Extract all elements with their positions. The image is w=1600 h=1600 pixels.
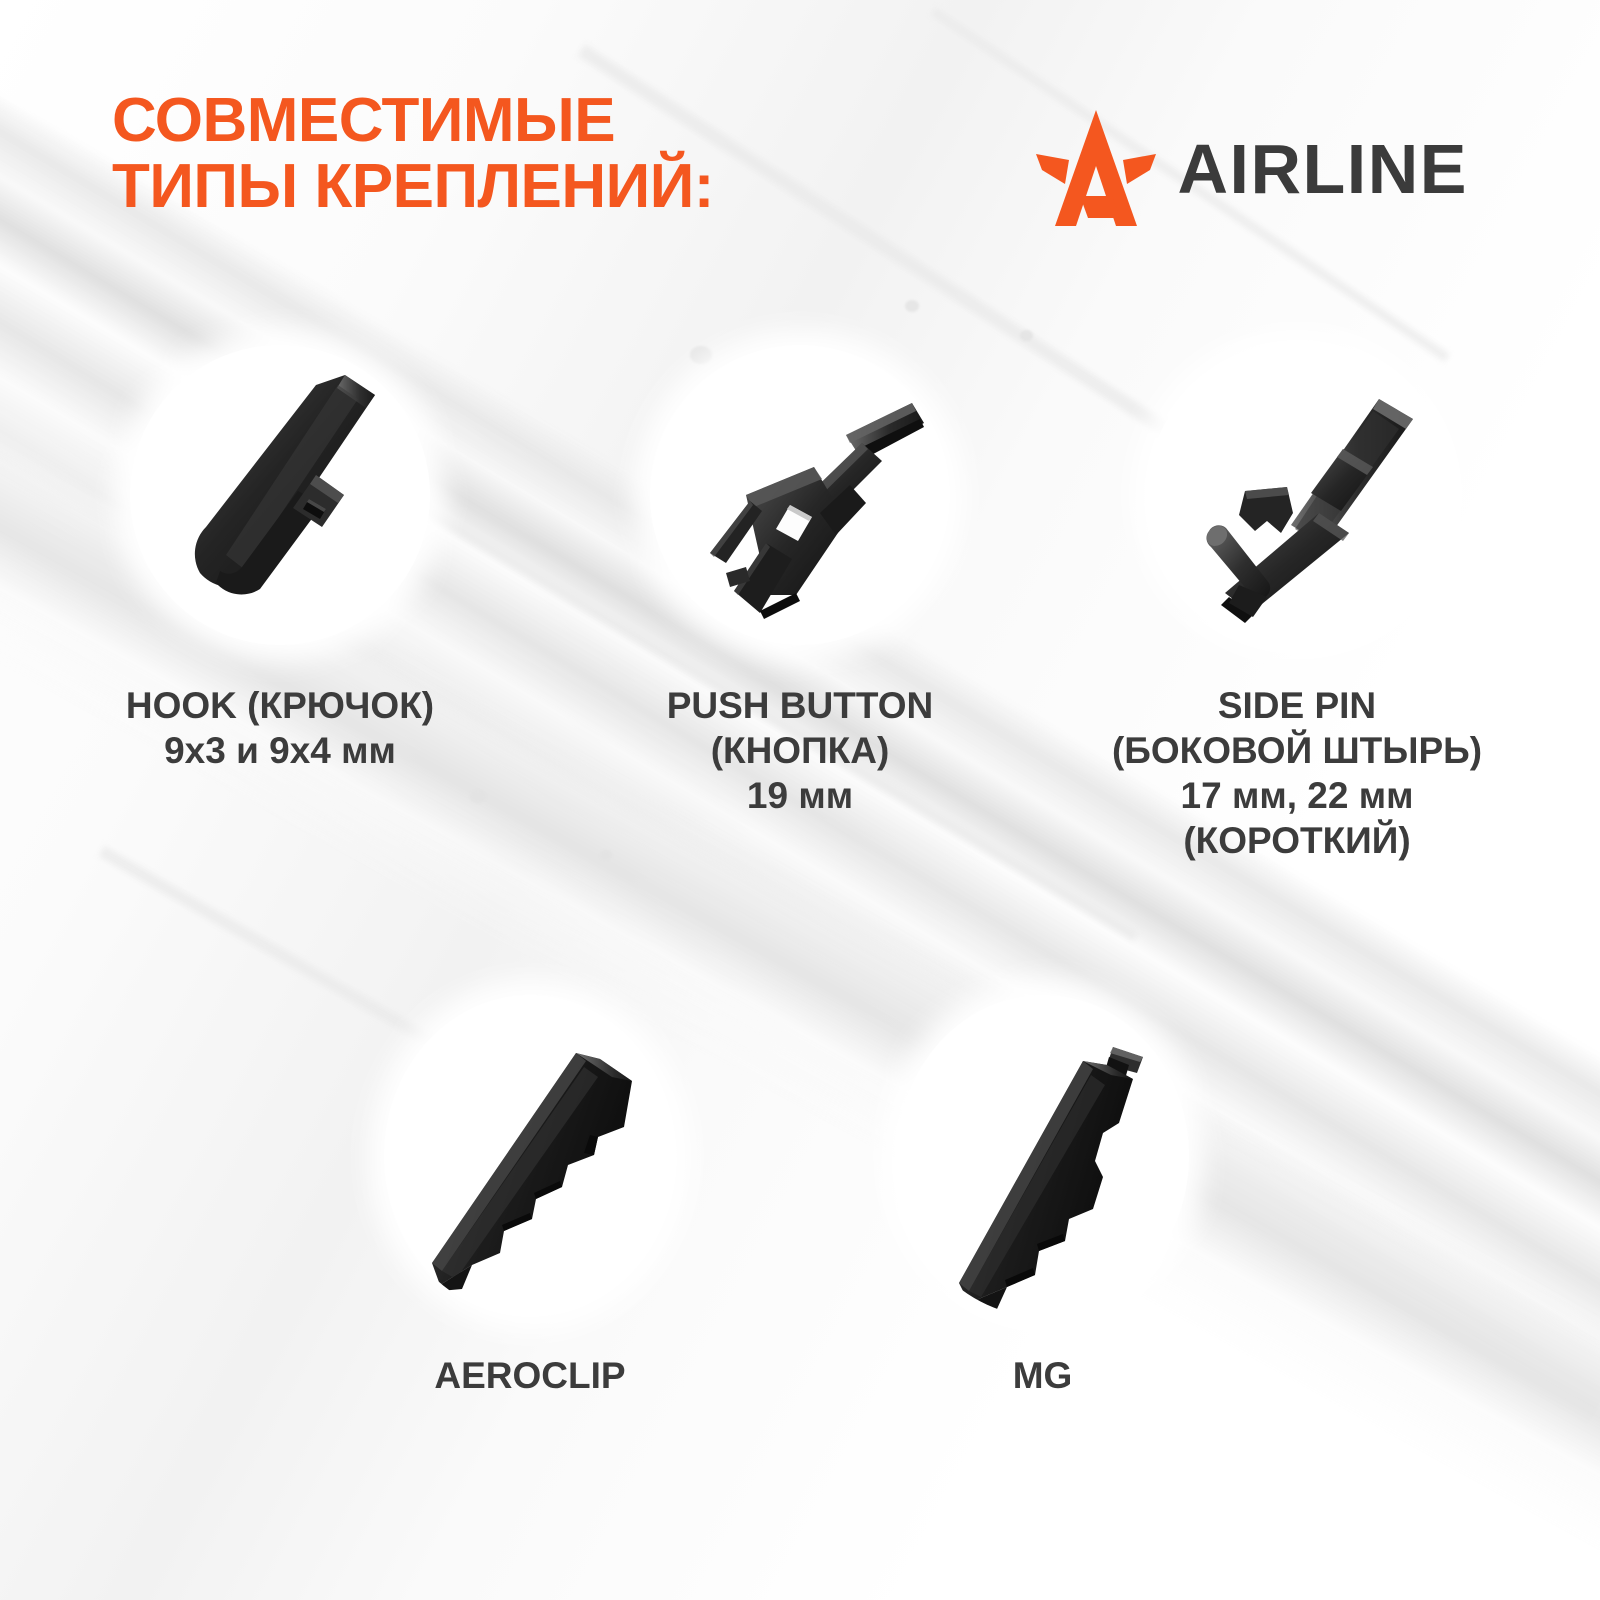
mount-image-circle	[897, 995, 1189, 1317]
side-pin-adapter-icon	[1147, 345, 1447, 645]
mount-label-mg: MG	[855, 1353, 1230, 1398]
water-droplet	[470, 790, 486, 803]
brand-logo: AIRLINE	[1036, 108, 1469, 230]
mount-image-circle	[650, 345, 950, 645]
aeroclip-adapter-icon	[384, 995, 676, 1317]
infographic-page: СОВМЕСТИМЫЕ ТИПЫ КРЕПЛЕНИЙ: AIRLINE	[0, 0, 1600, 1600]
water-droplet	[600, 850, 612, 860]
mount-card-hook: HOOK (КРЮЧОК) 9х3 и 9х4 мм	[60, 345, 500, 773]
push-button-adapter-icon	[650, 345, 950, 645]
mount-card-side-pin: SIDE PIN (БОКОВОЙ ШТЫРЬ) 17 мм, 22 мм (К…	[1062, 345, 1532, 864]
brand-wordmark: AIRLINE	[1178, 134, 1469, 204]
page-title: СОВМЕСТИМЫЕ ТИПЫ КРЕПЛЕНИЙ:	[112, 88, 872, 221]
hook-adapter-icon	[130, 345, 430, 645]
mount-image-circle	[130, 345, 430, 645]
water-droplet	[905, 300, 919, 312]
mg-adapter-icon	[897, 995, 1189, 1317]
water-droplet	[1020, 330, 1033, 341]
mount-label-push-button: PUSH BUTTON (КНОПКА) 19 мм	[585, 683, 1015, 818]
mount-card-push-button: PUSH BUTTON (КНОПКА) 19 мм	[585, 345, 1015, 818]
mount-label-hook: HOOK (КРЮЧОК) 9х3 и 9х4 мм	[60, 683, 500, 773]
mount-label-side-pin: SIDE PIN (БОКОВОЙ ШТЫРЬ) 17 мм, 22 мм (К…	[1062, 683, 1532, 864]
mount-card-aeroclip: AEROCLIP	[340, 995, 720, 1398]
mount-card-mg: MG	[855, 995, 1230, 1398]
airline-a-star-logo-icon	[1036, 108, 1156, 230]
mount-label-aeroclip: AEROCLIP	[340, 1353, 720, 1398]
mount-image-circle	[1147, 345, 1447, 645]
mount-image-circle	[384, 995, 676, 1317]
